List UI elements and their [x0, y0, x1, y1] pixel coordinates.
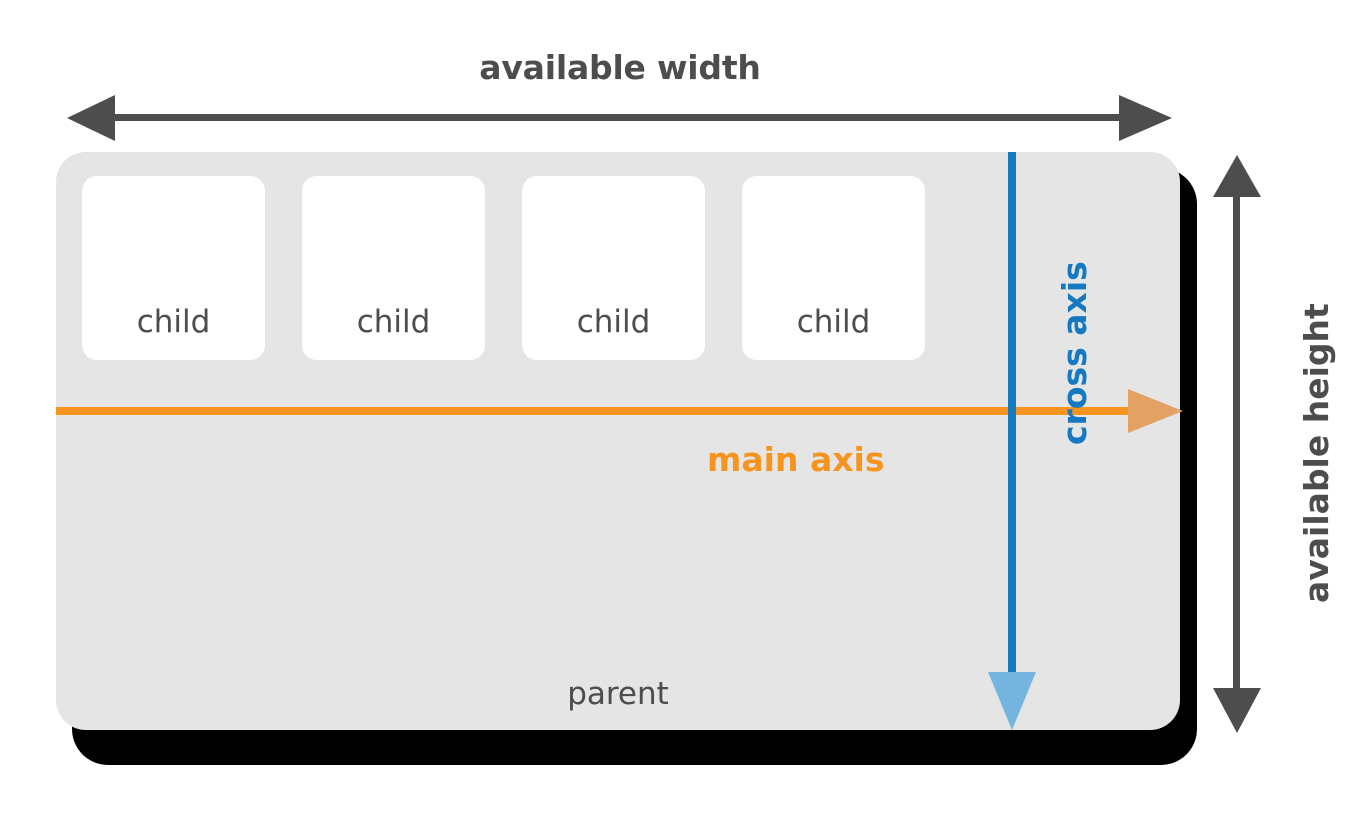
arrow-left-icon	[67, 95, 115, 141]
available-width-label: available width	[0, 48, 1240, 87]
available-height-line	[1233, 190, 1240, 692]
available-width-line	[110, 114, 1120, 121]
arrow-down-icon	[1213, 688, 1261, 733]
child-label: child	[82, 304, 265, 340]
child-label: child	[302, 304, 485, 340]
child-box: child	[82, 176, 265, 360]
main-axis-arrow-right-icon	[1128, 389, 1183, 433]
arrow-right-icon	[1119, 95, 1172, 141]
child-box: child	[742, 176, 925, 360]
diagram-canvas: available width child child child child …	[0, 0, 1371, 838]
children-row: child child child child	[82, 176, 925, 360]
main-axis-line	[56, 407, 1130, 415]
child-label: child	[742, 304, 925, 340]
available-height-label: available height	[1297, 303, 1336, 603]
child-box: child	[522, 176, 705, 360]
child-label: child	[522, 304, 705, 340]
cross-axis-arrow-down-icon	[988, 672, 1036, 730]
child-box: child	[302, 176, 485, 360]
cross-axis-label: cross axis	[1055, 261, 1094, 445]
cross-axis-line	[1008, 152, 1016, 680]
main-axis-label: main axis	[707, 440, 884, 479]
